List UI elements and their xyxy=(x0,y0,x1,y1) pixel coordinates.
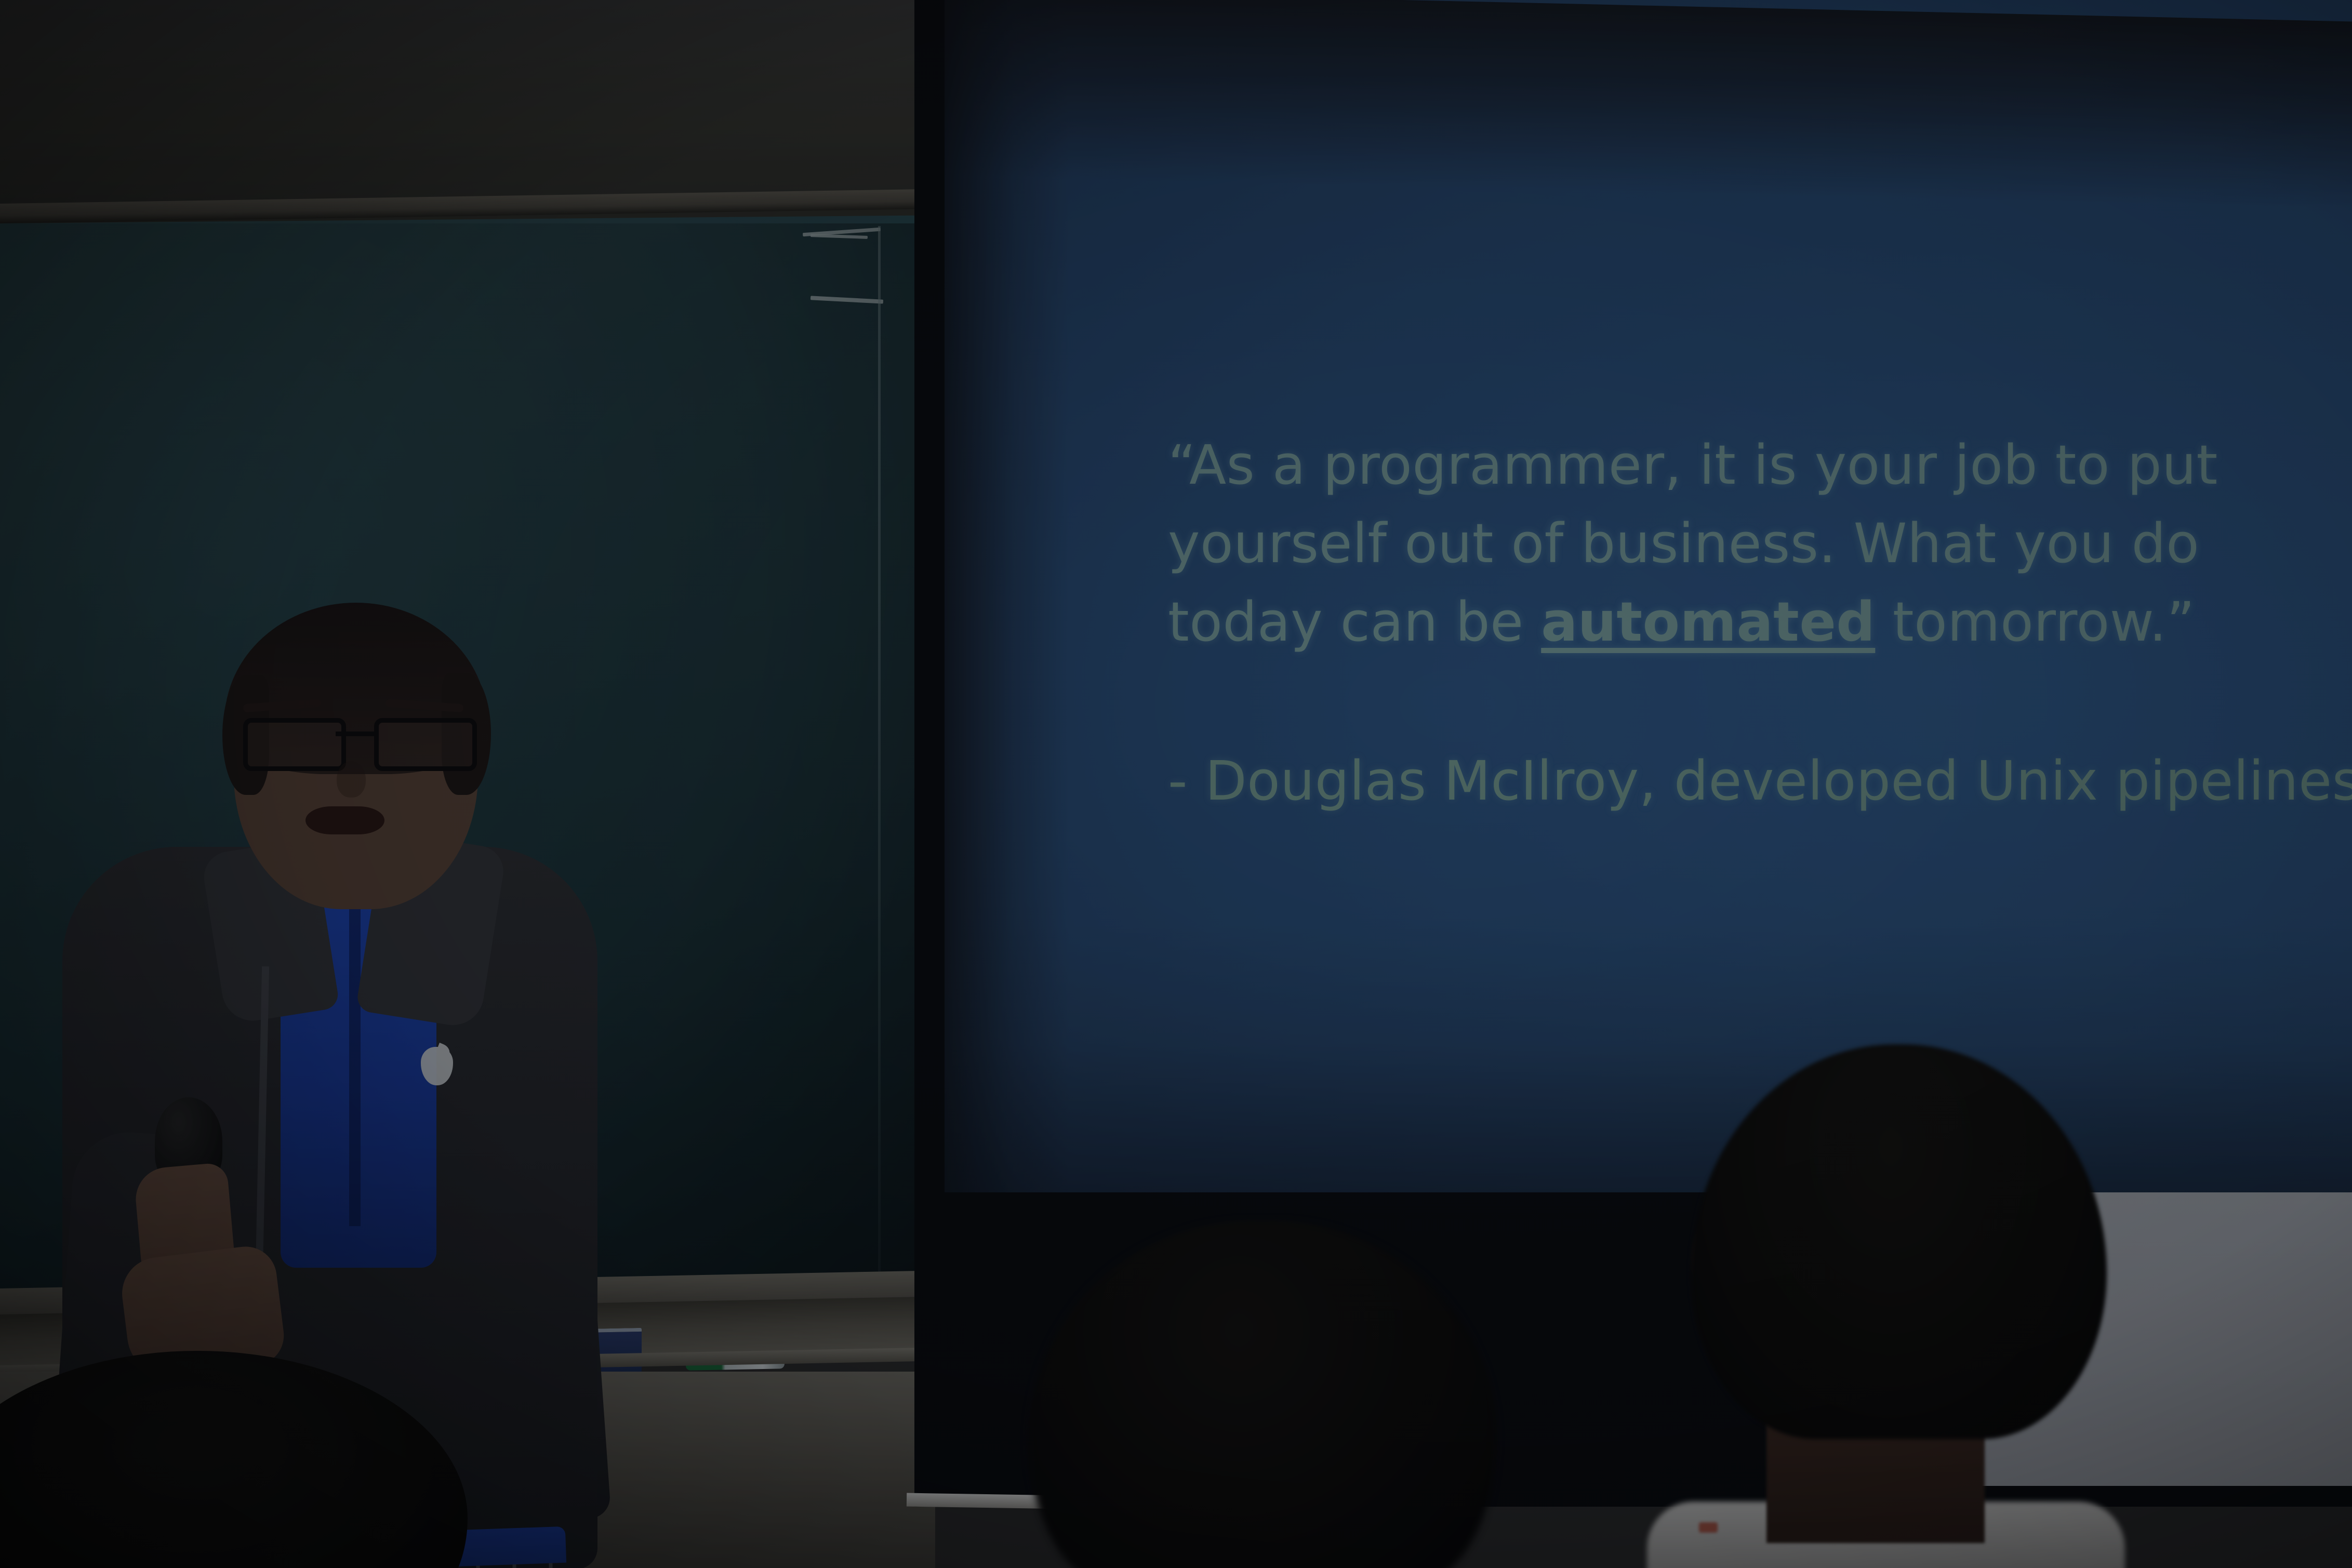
quote-line-3: today can be automated tomorrow.” xyxy=(1168,583,2342,661)
quote-line-2: yourself out of business. What you do xyxy=(1168,504,2342,583)
eyeglasses-icon xyxy=(238,718,473,763)
slide-attribution: - Douglas McIlroy, developed Unix pipeli… xyxy=(1168,749,2342,813)
quote-line-1: “As a programmer, it is your job to put xyxy=(1168,426,2342,504)
presenter-mouth xyxy=(305,806,384,834)
chalkboard-seam xyxy=(878,226,881,1296)
quote-line-3-prefix: today can be xyxy=(1168,590,1541,654)
quote-emphasis-automated: automated xyxy=(1541,590,1875,654)
lecture-photo-scene: “As a programmer, it is your job to put … xyxy=(0,0,2352,1568)
slide-bottom-vignette xyxy=(945,922,2352,1192)
projected-slide: “As a programmer, it is your job to put … xyxy=(945,0,2352,1192)
slide-top-vignette xyxy=(945,0,2352,209)
eyeglass-bridge xyxy=(336,732,375,736)
audience-collar-detail xyxy=(1699,1522,1718,1533)
slide-text-block: “As a programmer, it is your job to put … xyxy=(1168,426,2342,813)
presenter-shirt-placket xyxy=(349,894,361,1226)
presenter-nose xyxy=(337,761,366,798)
quote-line-3-suffix: tomorrow.” xyxy=(1875,590,2195,654)
eyeglass-lens-right xyxy=(374,718,477,771)
slide-quote: “As a programmer, it is your job to put … xyxy=(1168,426,2342,661)
eyeglass-lens-left xyxy=(243,718,346,771)
